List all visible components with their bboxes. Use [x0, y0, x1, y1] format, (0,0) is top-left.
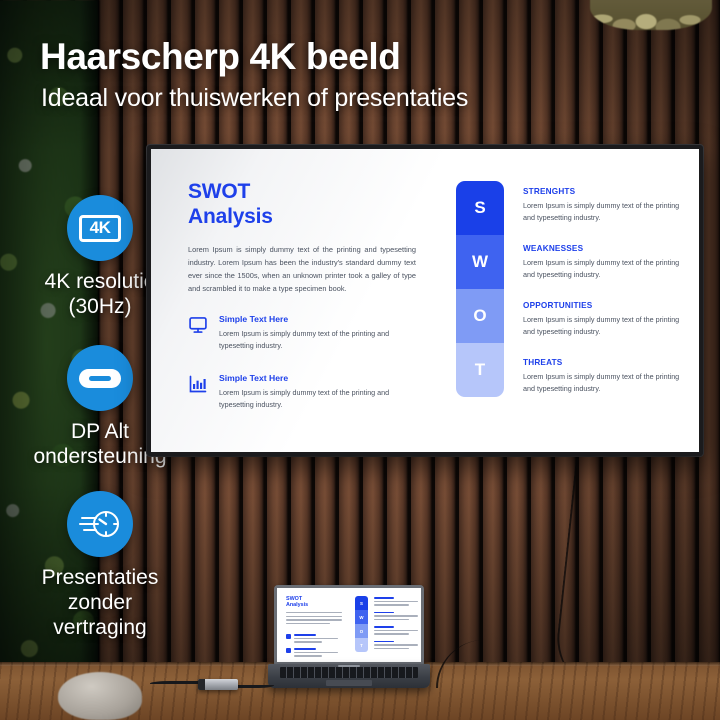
- laptop: SWOT Analysis: [268, 585, 430, 697]
- four-k-icon: 4K: [79, 215, 121, 242]
- bar-chart-icon: [286, 648, 291, 653]
- slide-text-body: Lorem Ipsum is simply dummy text of the …: [219, 387, 415, 410]
- laptop-slide-text-item: [286, 634, 338, 645]
- laptop-swot-letter-o: O: [355, 624, 368, 638]
- page-subtitle: Ideaal voor thuiswerken of presentaties: [41, 84, 468, 113]
- feature-label-line1: Presentaties: [4, 565, 196, 590]
- laptop-base: [268, 664, 430, 688]
- laptop-swot-letter-s: S: [355, 596, 368, 610]
- slide-text-body: Lorem Ipsum is simply dummy text of the …: [219, 328, 415, 351]
- swot-description-heading: OPPORTUNITIES: [523, 301, 693, 310]
- laptop-keyboard: [280, 667, 418, 678]
- swot-description-list: STRENGHTS Lorem Ipsum is simply dummy te…: [523, 187, 693, 415]
- speedometer-icon: [79, 507, 121, 541]
- feature-icon-badge: [67, 491, 133, 557]
- swot-letter-w: W: [456, 235, 504, 289]
- laptop-swot-letter-w: W: [355, 610, 368, 624]
- swot-letter-t: T: [456, 343, 504, 397]
- swot-description-opportunities: OPPORTUNITIES Lorem Ipsum is simply dumm…: [523, 301, 693, 337]
- slide-text-heading: Simple Text Here: [219, 314, 415, 324]
- swot-letter-column: S W O T: [456, 181, 504, 397]
- slide-intro-text: Lorem Ipsum is simply dummy text of the …: [188, 243, 416, 295]
- feature-icon-badge: 4K: [67, 195, 133, 261]
- dock-cable-left: [150, 681, 202, 687]
- laptop-lid: SWOT Analysis: [274, 585, 424, 665]
- feature-label-line2: zonder: [4, 590, 196, 615]
- swot-description-body: Lorem Ipsum is simply dummy text of the …: [523, 257, 693, 280]
- swot-description-heading: WEAKNESSES: [523, 244, 693, 253]
- laptop-screen: SWOT Analysis: [277, 588, 421, 662]
- swot-description-heading: STRENGHTS: [523, 187, 693, 196]
- laptop-brand-mark: [338, 665, 360, 667]
- laptop-slide-text-item: [286, 648, 338, 659]
- usb-c-port-icon: [79, 369, 121, 388]
- swot-letter-o: O: [456, 289, 504, 343]
- slide-title-line1: SWOT: [188, 179, 273, 204]
- swot-description-body: Lorem Ipsum is simply dummy text of the …: [523, 371, 693, 394]
- swot-description-threats: THREATS Lorem Ipsum is simply dummy text…: [523, 358, 693, 394]
- monitor-icon: [286, 634, 291, 639]
- feature-label-line3: vertraging: [4, 615, 196, 640]
- slide-text-item: Simple Text Here Lorem Ipsum is simply d…: [188, 373, 415, 410]
- laptop-swot-letter-t: T: [355, 638, 368, 652]
- laptop-slide-title-line2: Analysis: [286, 602, 308, 608]
- swot-description-weaknesses: WEAKNESSES Lorem Ipsum is simply dummy t…: [523, 244, 693, 280]
- feature-item-low-latency: Presentaties zonder vertraging: [0, 491, 200, 640]
- television: SWOT Analysis Lorem Ipsum is simply dumm…: [147, 145, 703, 456]
- feature-icon-badge: [67, 345, 133, 411]
- usb-c-dock: [198, 679, 238, 690]
- decor-stone: [58, 672, 142, 720]
- laptop-swot-descriptions: [374, 597, 418, 655]
- page-title: Haarscherp 4K beeld: [40, 36, 401, 78]
- laptop-slide-title: SWOT Analysis: [286, 596, 308, 609]
- laptop-trackpad: [326, 680, 372, 686]
- slide-title-line2: Analysis: [188, 204, 273, 229]
- slide-text-item: Simple Text Here Lorem Ipsum is simply d…: [188, 314, 415, 351]
- feature-label: Presentaties zonder vertraging: [0, 565, 200, 640]
- swot-slide: SWOT Analysis Lorem Ipsum is simply dumm…: [151, 149, 699, 452]
- swot-description-heading: THREATS: [523, 358, 693, 367]
- dock-cable-right: [236, 681, 274, 688]
- swot-description-body: Lorem Ipsum is simply dummy text of the …: [523, 314, 693, 337]
- laptop-swot-letter-column: S W O T: [355, 596, 368, 652]
- bar-chart-icon: [188, 374, 208, 394]
- monitor-icon: [188, 315, 208, 335]
- promo-banner: Haarscherp 4K beeld Ideaal voor thuiswer…: [0, 0, 720, 720]
- swot-description-body: Lorem Ipsum is simply dummy text of the …: [523, 200, 693, 223]
- slide-title: SWOT Analysis: [188, 179, 273, 229]
- slide-text-heading: Simple Text Here: [219, 373, 415, 383]
- swot-description-strengths: STRENGHTS Lorem Ipsum is simply dummy te…: [523, 187, 693, 223]
- tv-screen: SWOT Analysis Lorem Ipsum is simply dumm…: [151, 149, 699, 452]
- dock-port-face: [198, 679, 205, 690]
- swot-letter-s: S: [456, 181, 504, 235]
- laptop-slide-intro: [286, 612, 342, 626]
